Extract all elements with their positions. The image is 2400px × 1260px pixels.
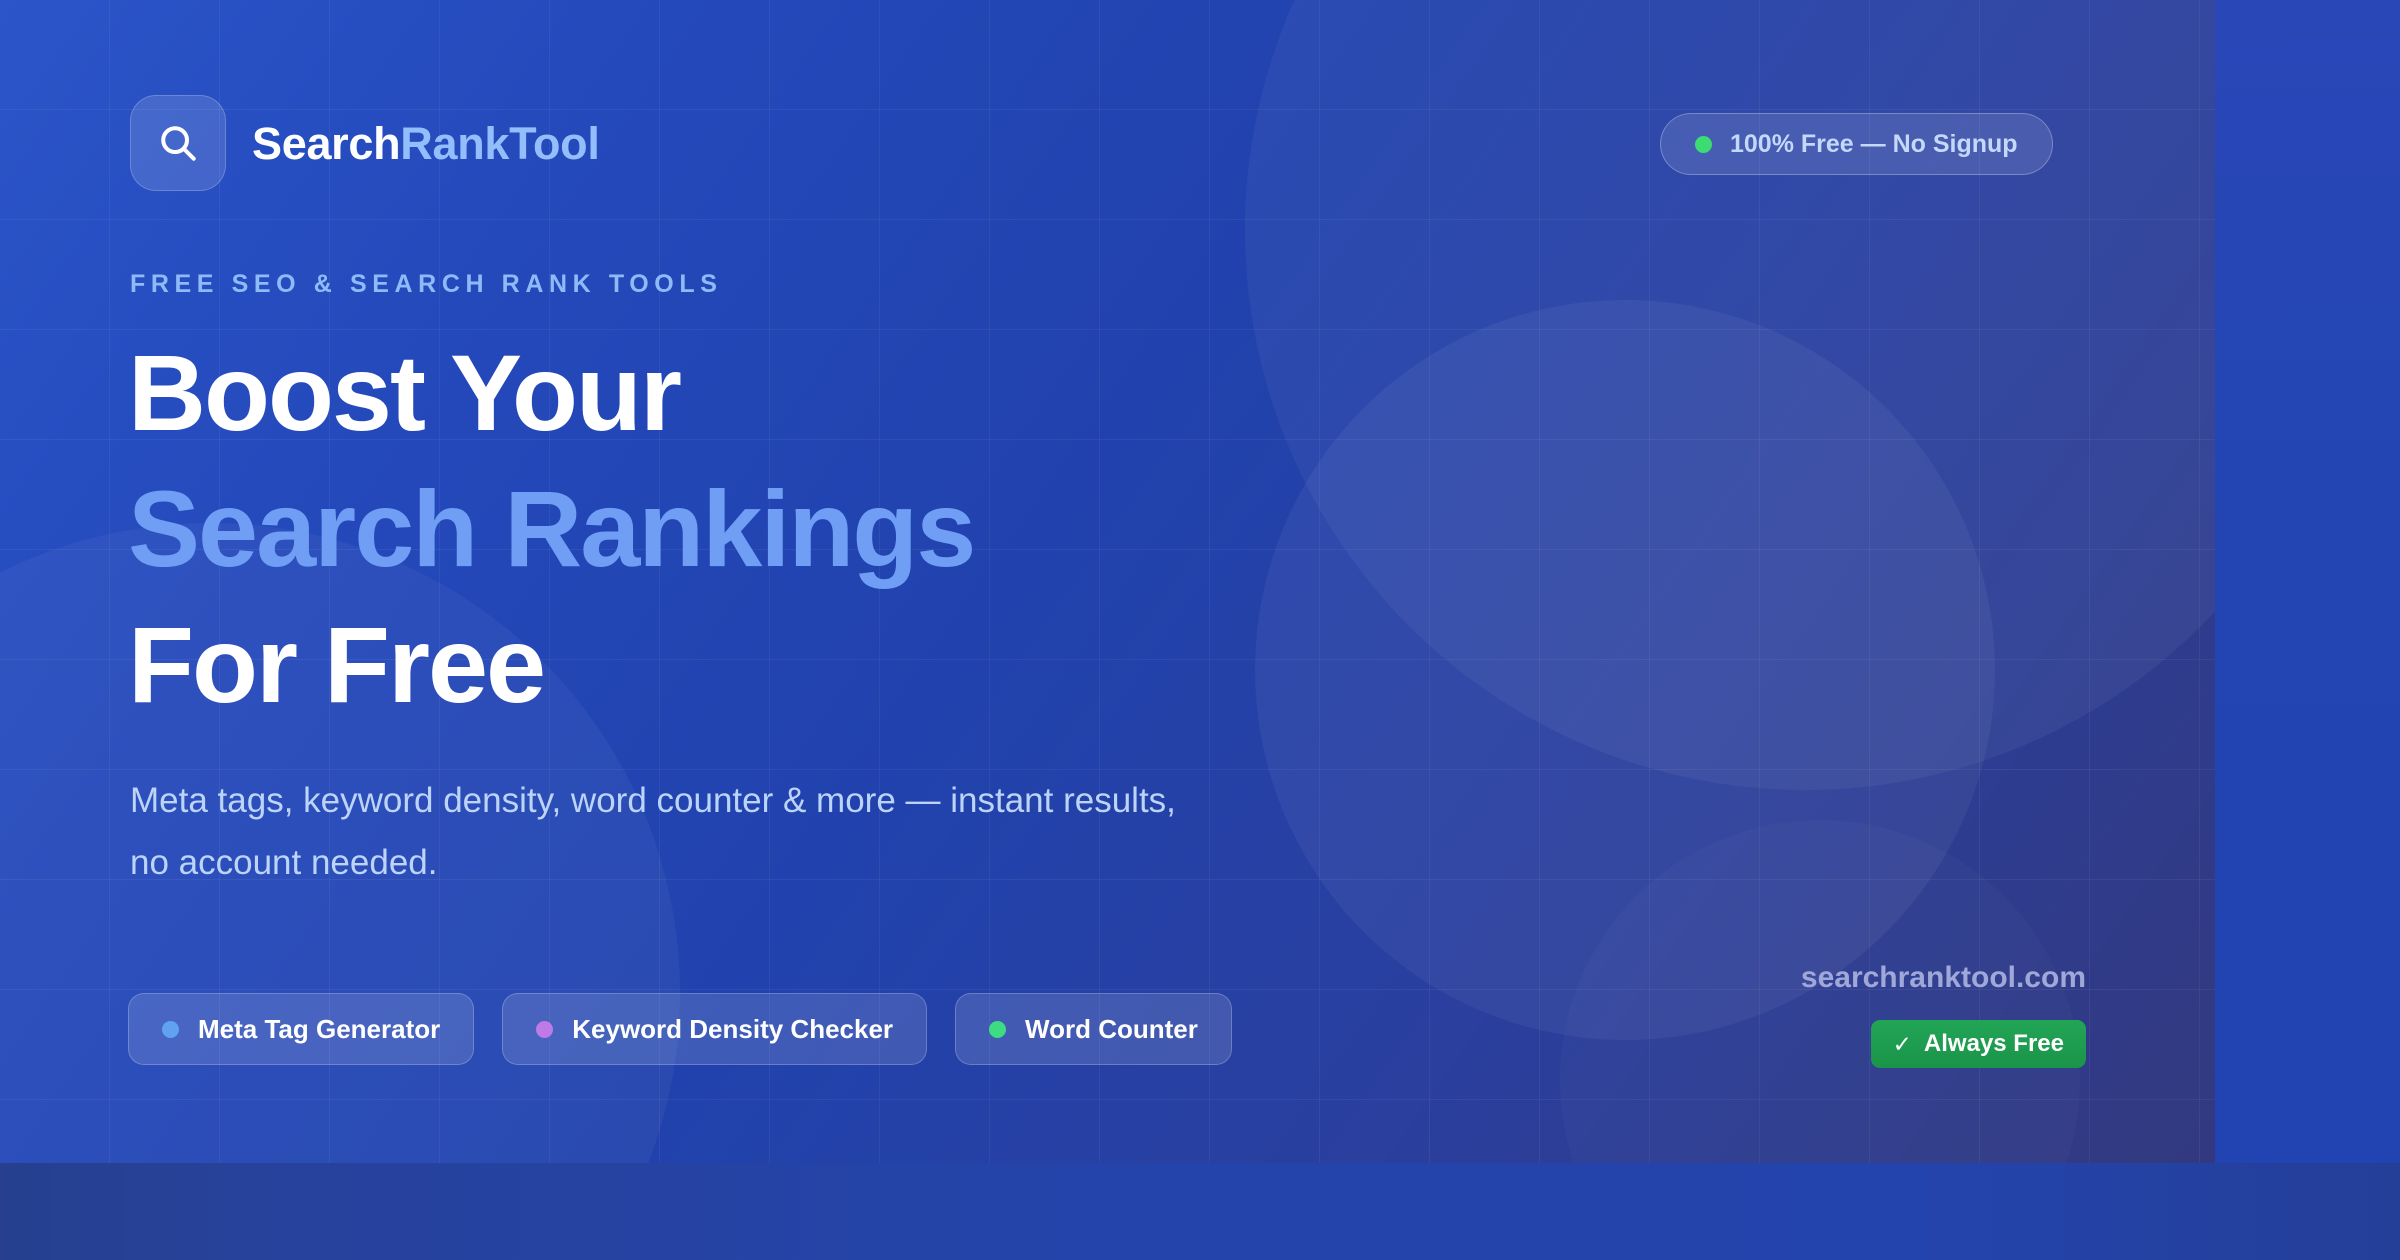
tool-pill-word-counter[interactable]: Word Counter <box>955 993 1232 1065</box>
logo-button[interactable] <box>130 95 226 191</box>
always-free-button[interactable]: ✓ Always Free <box>1871 1020 2086 1068</box>
search-icon <box>155 120 201 166</box>
hero-subhead-line-2: no account needed. <box>130 832 1176 894</box>
right-edge-fill <box>2214 0 2400 1163</box>
logo-word-primary: Search <box>252 118 400 169</box>
tool-pill-label: Word Counter <box>1025 1016 1198 1042</box>
headline-line-2: Search Rankings <box>128 461 974 597</box>
mint-dot-icon <box>989 1021 1006 1038</box>
free-signup-badge[interactable]: 100% Free — No Signup <box>1660 113 2053 175</box>
hero-subhead-line-1: Meta tags, keyword density, word counter… <box>130 770 1176 832</box>
purple-dot-icon <box>536 1021 553 1038</box>
blue-dot-icon <box>162 1021 179 1038</box>
brand-footer-block: searchranktool.com ✓ Always Free <box>1750 963 2086 1068</box>
always-free-label: Always Free <box>1924 1032 2064 1056</box>
hero-subhead: Meta tags, keyword density, word counter… <box>130 770 1176 894</box>
tool-pill-meta-tag-generator[interactable]: Meta Tag Generator <box>128 993 474 1065</box>
tool-pill-label: Keyword Density Checker <box>572 1016 893 1042</box>
site-header: SearchRankTool <box>130 95 600 191</box>
free-signup-badge-label: 100% Free — No Signup <box>1730 132 2018 157</box>
tool-pill-label: Meta Tag Generator <box>198 1016 440 1042</box>
logo-wordmark[interactable]: SearchRankTool <box>252 121 600 166</box>
hero-screen: SearchRankTool 100% Free — No Signup FRE… <box>0 0 2400 1260</box>
hero-section: SearchRankTool 100% Free — No Signup FRE… <box>0 0 2215 1163</box>
headline-line-3: For Free <box>128 597 974 733</box>
hero-content: SearchRankTool 100% Free — No Signup FRE… <box>0 0 2215 1163</box>
brand-domain-label: searchranktool.com <box>1750 963 2086 993</box>
hero-headline: Boost Your Search Rankings For Free <box>128 325 974 733</box>
tool-pill-group: Meta Tag Generator Keyword Density Check… <box>128 993 1232 1065</box>
headline-line-1: Boost Your <box>128 325 974 461</box>
bottom-band-fill <box>0 1163 2400 1260</box>
hero-eyebrow: FREE SEO & SEARCH RANK TOOLS <box>130 270 723 299</box>
check-mark-icon: ✓ <box>1893 1033 1912 1056</box>
green-dot-icon <box>1695 136 1712 153</box>
logo-word-secondary: RankTool <box>400 118 599 169</box>
tool-pill-keyword-density-checker[interactable]: Keyword Density Checker <box>502 993 927 1065</box>
